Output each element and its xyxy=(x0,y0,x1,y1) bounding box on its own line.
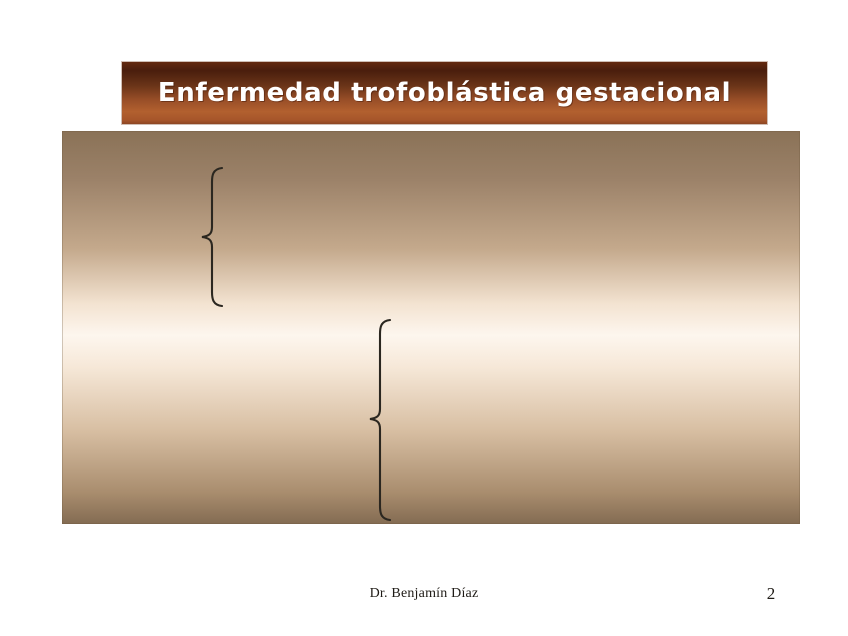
footer-page-number: 2 xyxy=(757,584,785,604)
slide-title-banner: Enfermedad trofoblástica gestacional xyxy=(122,62,767,124)
footer-author: Dr. Benjamín Díaz xyxy=(0,586,848,602)
slide-canvas: Enfermedad trofoblástica gestacional Ben… xyxy=(0,0,848,636)
slide-content-panel xyxy=(62,131,800,524)
slide-title: Enfermedad trofoblástica gestacional xyxy=(122,78,767,108)
